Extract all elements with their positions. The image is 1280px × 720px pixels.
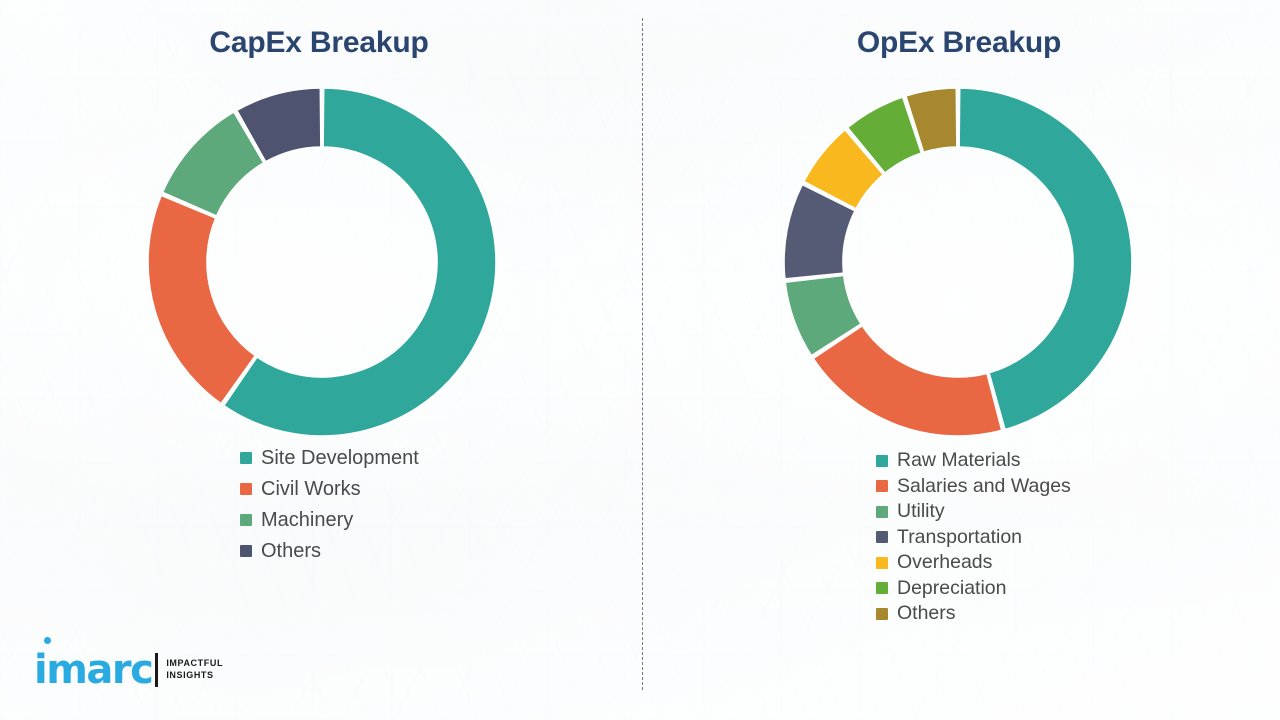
capex-donut-svg: [148, 88, 496, 436]
logo-tagline-line1: IMPACTFUL: [166, 658, 223, 670]
legend-label: Civil Works: [261, 479, 361, 499]
legend-swatch-icon: [240, 514, 252, 526]
legend-swatch-icon: [240, 452, 252, 464]
donut-slice-salaries-and-wages: [813, 326, 1002, 436]
legend-label: Site Development: [261, 448, 419, 468]
legend-label: Salaries and Wages: [897, 477, 1071, 497]
legend-swatch-icon: [876, 531, 888, 543]
legend-item-civil-works[interactable]: Civil Works: [240, 479, 419, 499]
imarc-logo: imarc IMPACTFUL INSIGHTS: [34, 650, 223, 690]
legend-item-others[interactable]: Others: [240, 541, 419, 561]
legend-item-utility[interactable]: Utility: [876, 502, 1071, 522]
opex-title: OpEx Breakup: [640, 26, 1278, 60]
legend-item-overheads[interactable]: Overheads: [876, 553, 1071, 573]
logo-dot-icon: [44, 637, 51, 644]
legend-swatch-icon: [240, 545, 252, 557]
opex-slice-group: [784, 88, 1132, 436]
legend-item-salaries-and-wages[interactable]: Salaries and Wages: [876, 477, 1071, 497]
donut-slice-civil-works: [148, 195, 255, 403]
logo-divider-bar: [155, 653, 158, 687]
legend-swatch-icon: [876, 608, 888, 620]
legend-swatch-icon: [876, 455, 888, 467]
legend-item-site-development[interactable]: Site Development: [240, 448, 419, 468]
legend-item-depreciation[interactable]: Depreciation: [876, 579, 1071, 599]
legend-swatch-icon: [876, 582, 888, 594]
opex-legend: Raw MaterialsSalaries and WagesUtilityTr…: [876, 451, 1071, 630]
opex-donut-svg: [784, 88, 1132, 436]
legend-label: Others: [261, 541, 321, 561]
logo-tagline-line2: INSIGHTS: [166, 670, 223, 682]
legend-swatch-icon: [876, 557, 888, 569]
legend-label: Depreciation: [897, 579, 1006, 599]
legend-label: Transportation: [897, 528, 1022, 548]
capex-title: CapEx Breakup: [0, 26, 640, 60]
legend-label: Machinery: [261, 510, 353, 530]
legend-item-transportation[interactable]: Transportation: [876, 528, 1071, 548]
opex-donut-chart: [784, 88, 1132, 436]
logo-tagline: IMPACTFUL INSIGHTS: [166, 658, 223, 682]
legend-label: Others: [897, 604, 956, 624]
capex-donut-chart: [148, 88, 496, 436]
capex-legend: Site DevelopmentCivil WorksMachineryOthe…: [240, 448, 419, 572]
slide-canvas: CapEx Breakup Site DevelopmentCivil Work…: [0, 0, 1280, 720]
legend-swatch-icon: [240, 483, 252, 495]
legend-label: Utility: [897, 502, 945, 522]
legend-label: Overheads: [897, 553, 992, 573]
logo-wordmark: imarc: [34, 650, 152, 690]
legend-item-machinery[interactable]: Machinery: [240, 510, 419, 530]
legend-item-others[interactable]: Others: [876, 604, 1071, 624]
legend-label: Raw Materials: [897, 451, 1021, 471]
legend-item-raw-materials[interactable]: Raw Materials: [876, 451, 1071, 471]
legend-swatch-icon: [876, 480, 888, 492]
legend-swatch-icon: [876, 506, 888, 518]
capex-slice-group: [148, 88, 496, 436]
